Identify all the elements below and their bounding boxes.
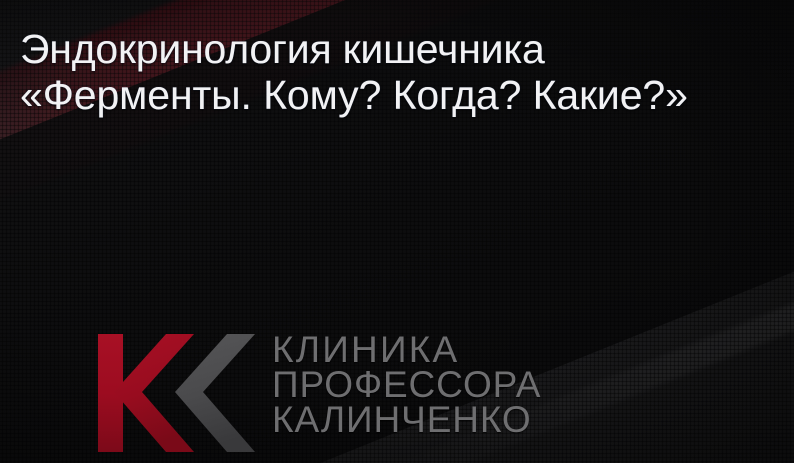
slide-title-line-1: Эндокринология кишечника xyxy=(20,26,780,72)
wordmark-line-2: ПРОФЕССОРА xyxy=(272,367,692,402)
wordmark-line-3: КАЛИНЧЕНКО xyxy=(272,402,692,437)
slide-title: Эндокринология кишечника «Ферменты. Кому… xyxy=(20,26,780,118)
clinic-wordmark: КЛИНИКА ПРОФЕССОРА КАЛИНЧЕНКО xyxy=(272,332,692,437)
kk-double-chevron-icon xyxy=(96,332,256,454)
slide-title-line-2: «Ферменты. Кому? Когда? Какие?» xyxy=(20,72,780,118)
wordmark-line-1: КЛИНИКА xyxy=(272,332,692,367)
presentation-slide: Эндокринология кишечника «Ферменты. Кому… xyxy=(0,0,794,463)
clinic-logo: КЛИНИКА ПРОФЕССОРА КАЛИНЧЕНКО xyxy=(96,330,696,456)
